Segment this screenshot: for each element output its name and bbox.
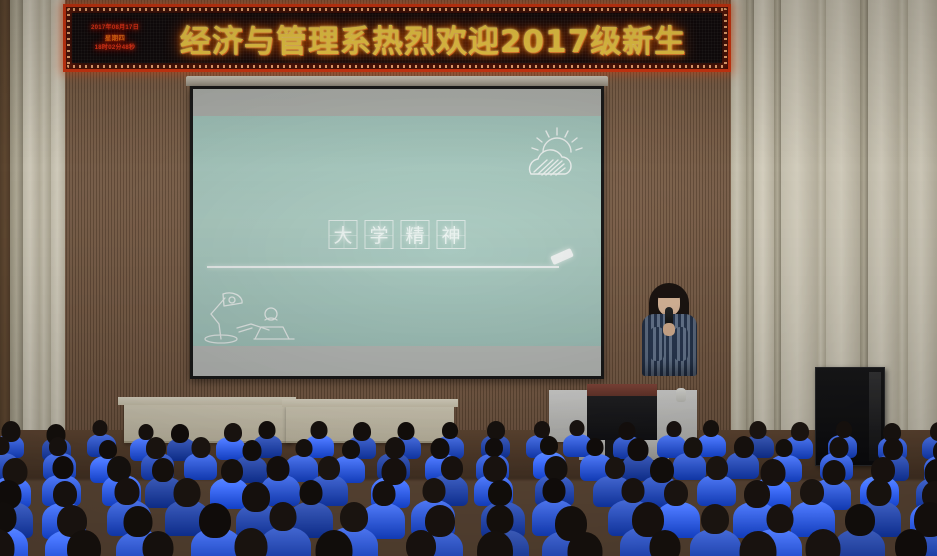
pilaster-left-1 [10, 0, 23, 470]
student-head [353, 422, 371, 441]
student-head [540, 436, 558, 455]
pilaster-right-11 [908, 0, 937, 470]
pilaster-right-2 [746, 0, 754, 470]
student-head [703, 420, 719, 437]
student-head [930, 422, 937, 441]
student-head [740, 531, 777, 556]
student-head [895, 529, 927, 556]
presenter-right-arm [674, 327, 688, 361]
water-bottle [676, 388, 686, 402]
pilaster-left-2 [23, 0, 39, 470]
slide-title-char-4: 神 [437, 220, 466, 249]
desk-lamp-study-doodle [199, 284, 303, 346]
led-banner-main-text: 经济与管理系热烈欢迎2017级新生 [158, 16, 722, 61]
audience-student [54, 530, 112, 556]
slide-underline [207, 266, 559, 268]
student-head [423, 478, 446, 503]
student-head [543, 478, 566, 503]
student-head [0, 529, 15, 556]
student-head [734, 436, 754, 458]
student-head [706, 456, 728, 480]
audience-student [394, 530, 452, 556]
led-weekday-line: 星期四 [105, 35, 125, 42]
student-head [836, 421, 852, 438]
led-date-line: 2017年08月17日 [91, 25, 139, 32]
student-head [242, 440, 261, 461]
audience-student [799, 529, 857, 556]
slide-title-char-3: 精 [401, 220, 430, 249]
audience-student [468, 531, 526, 556]
student-head [829, 437, 848, 458]
student-head [622, 478, 645, 503]
student-head [569, 420, 584, 436]
student-head [146, 437, 166, 459]
student-head [442, 422, 458, 439]
student-head [269, 502, 296, 531]
sun-cloud-doodle [517, 122, 595, 188]
student-head [766, 504, 793, 533]
audience-student [309, 530, 367, 556]
student-head [115, 478, 140, 505]
slide-title-char-1: 大 [329, 220, 358, 249]
student-head [701, 504, 729, 534]
projection-screen: 大 学 精 神 [190, 86, 604, 379]
student-head [568, 532, 603, 556]
student-head [483, 456, 507, 482]
presenter-fringe [656, 286, 682, 298]
student-head [316, 530, 353, 556]
audience-student [0, 529, 25, 556]
student-head [488, 480, 512, 506]
screen-band-bottom [193, 346, 601, 376]
student-head [806, 529, 841, 556]
student-head [266, 456, 289, 481]
table-top-surface [282, 399, 458, 407]
student-head [318, 456, 340, 480]
student-head [586, 438, 603, 456]
pilaster-right-10 [898, 0, 908, 470]
led-time-line: 18时02分48秒 [95, 45, 136, 52]
student-head [143, 531, 174, 556]
student-head [0, 437, 9, 455]
screen-housing [186, 76, 608, 86]
audience-student [130, 531, 188, 556]
pilaster-right-5 [781, 0, 817, 470]
pilaster-left-3 [39, 0, 51, 470]
student-head [666, 421, 681, 437]
student-head [191, 437, 210, 458]
audience-student [697, 456, 736, 506]
slide-title-char-2: 学 [365, 220, 394, 249]
presenter-hands [663, 323, 675, 336]
pilaster-right-1 [731, 0, 746, 470]
lectern-top-band [587, 384, 657, 396]
student-head [340, 502, 368, 532]
student-head [441, 456, 463, 480]
photograph-canvas: 2017年08月17日 星期四 18时02分48秒 经济与管理系热烈欢迎2017… [0, 0, 937, 556]
presentation-slide: 大 学 精 神 [193, 116, 601, 352]
student-head [53, 481, 77, 507]
student-head [650, 530, 681, 556]
student-head [52, 456, 73, 479]
student-head [406, 530, 436, 556]
table-top-surface [118, 397, 296, 405]
student-head [477, 531, 513, 556]
student-head [295, 439, 312, 457]
led-banner-side-panel: 2017年08月17日 星期四 18时02分48秒 [72, 13, 158, 63]
student-head [683, 437, 702, 458]
student-head [485, 438, 503, 457]
student-head [92, 420, 107, 436]
student-head [67, 530, 101, 556]
student-head [385, 437, 405, 459]
student-head [235, 528, 268, 556]
audience-student [552, 532, 610, 556]
student-head [310, 421, 327, 439]
student-head [867, 479, 892, 506]
student-head [605, 457, 625, 479]
audience-student [220, 528, 278, 556]
audience-student [640, 530, 698, 556]
student-head [486, 505, 513, 534]
student-head [49, 437, 67, 456]
slide-title-grid: 大 学 精 神 [329, 220, 466, 249]
student-head [800, 479, 824, 505]
led-welcome-banner: 2017年08月17日 星期四 18时02分48秒 经济与管理系热烈欢迎2017… [63, 4, 731, 72]
chalk-stick-icon [550, 248, 574, 265]
wall-edge-left [0, 0, 10, 470]
pilaster-right-3 [754, 0, 774, 470]
student-head [258, 421, 275, 439]
audience-student [726, 531, 784, 556]
led-banner-display: 2017年08月17日 星期四 18时02分48秒 经济与管理系热烈欢迎2017… [72, 13, 722, 63]
presenter-person [638, 283, 700, 383]
pilaster-right-4 [774, 0, 781, 470]
audience-student [885, 529, 937, 556]
presenter-left-arm [650, 327, 664, 361]
student-head [221, 459, 243, 483]
student-head [775, 439, 792, 457]
screen-band-top [193, 89, 601, 116]
student-audience [0, 418, 937, 556]
